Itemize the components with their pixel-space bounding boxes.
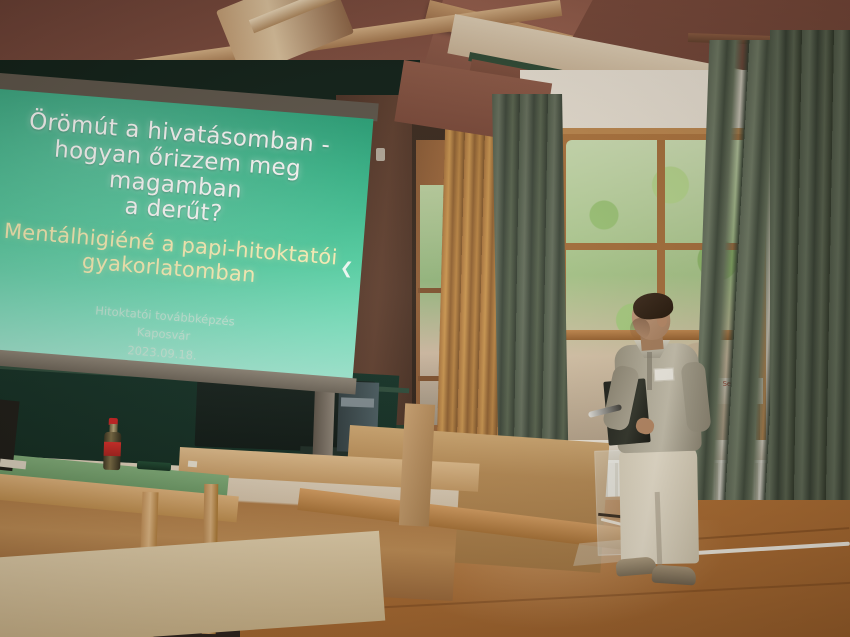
wall-socket[interactable] bbox=[376, 148, 385, 161]
name-badge bbox=[654, 367, 675, 381]
presenter bbox=[600, 296, 730, 596]
slide-content: Örömút a hivatásomban - hogyan őrizzem m… bbox=[0, 88, 373, 380]
projection-screen: Örömút a hivatásomban - hogyan őrizzem m… bbox=[0, 72, 379, 402]
slide-surface: Örömút a hivatásomban - hogyan őrizzem m… bbox=[0, 88, 373, 380]
presenter-shoe-left bbox=[615, 556, 656, 576]
bottle-label bbox=[104, 442, 121, 457]
presenter-shoe-right bbox=[651, 564, 696, 585]
presenter-face-shadow bbox=[630, 318, 650, 340]
presentation-photo: Seifert Örömút a hivatásomban - hogyan ő… bbox=[0, 0, 850, 637]
podium-post bbox=[399, 403, 435, 526]
presenter-shirt-placket bbox=[647, 352, 652, 390]
small-note[interactable] bbox=[188, 461, 197, 468]
coca-cola-bottle[interactable] bbox=[103, 418, 122, 471]
chevron-left-icon: ❮ bbox=[339, 258, 354, 278]
slide-title: Örömút a hivatásomban - hogyan őrizzem m… bbox=[0, 107, 358, 238]
